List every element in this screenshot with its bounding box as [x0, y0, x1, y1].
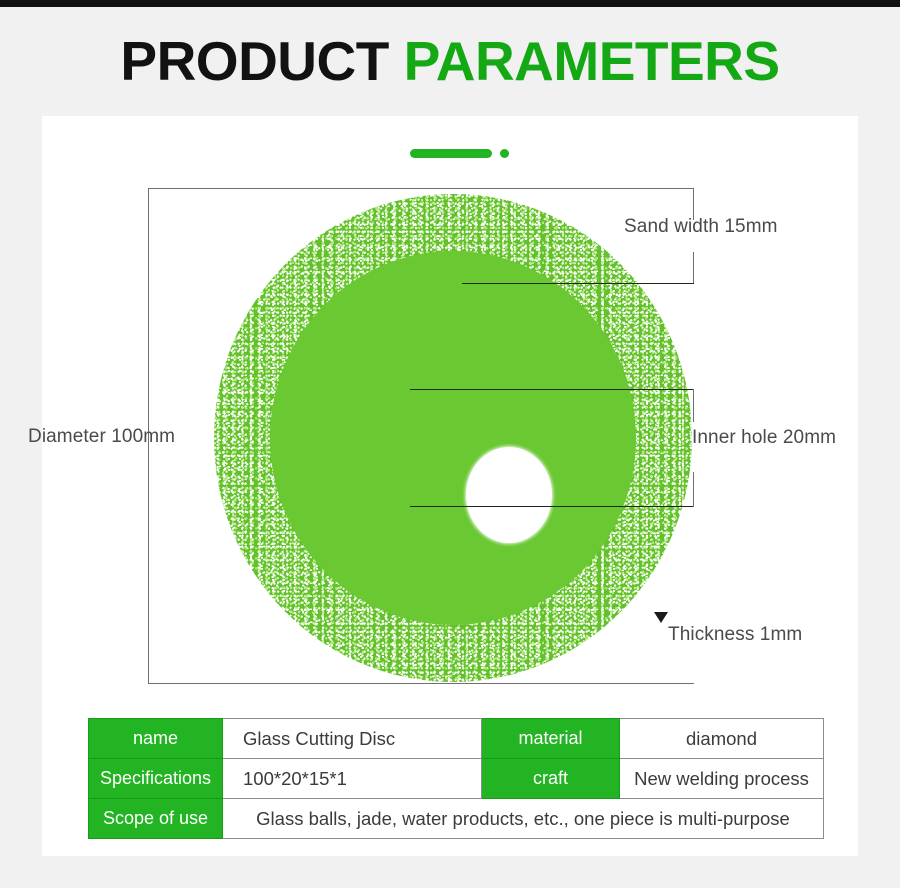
- page-title-word-product: PRODUCT: [120, 30, 388, 92]
- table-row: Scope of use Glass balls, jade, water pr…: [89, 799, 824, 839]
- table-cell-key-scope-of-use: Scope of use: [89, 799, 223, 839]
- table-cell-value-product-name: Glass Cutting Disc: [223, 719, 482, 759]
- page-title-word-parameters: PARAMETERS: [404, 30, 780, 92]
- content-panel: Diameter 100mm Sand width 15mm Inner hol…: [42, 116, 858, 856]
- top-black-bar: [0, 0, 900, 7]
- diameter-bracket-bottom-line: [148, 683, 694, 684]
- sand-width-leader-top: [652, 188, 694, 189]
- glass-cutting-disc-illustration: [214, 194, 692, 682]
- title-ornament: [410, 146, 515, 160]
- table-cell-value-scope-of-use: Glass balls, jade, water products, etc.,…: [223, 799, 824, 839]
- table-cell-key-craft: craft: [482, 759, 620, 799]
- inner-hole-leader-top: [410, 389, 694, 390]
- page-title: PRODUCT PARAMETERS: [0, 34, 900, 89]
- table-cell-value-material: diamond: [620, 719, 824, 759]
- sand-width-leader-bottom: [462, 283, 694, 284]
- callout-label-inner-hole: Inner hole 20mm: [692, 427, 836, 449]
- inner-hole-leader-vertical-lower: [693, 472, 694, 507]
- inner-hole-leader-vertical-upper: [693, 389, 694, 422]
- triangle-down-icon: [654, 612, 668, 623]
- callout-label-thickness: Thickness 1mm: [668, 624, 802, 646]
- table-row: name Glass Cutting Disc material diamond: [89, 719, 824, 759]
- disc-blade-body: [270, 251, 636, 625]
- green-dot-icon: [500, 149, 509, 158]
- callout-label-diameter: Diameter 100mm: [28, 426, 175, 448]
- disc-inner-hole: [466, 447, 552, 543]
- specification-table: name Glass Cutting Disc material diamond…: [88, 718, 824, 839]
- sand-width-leader-vertical-lower: [693, 252, 694, 284]
- table-cell-key-specifications: Specifications: [89, 759, 223, 799]
- diameter-bracket-top-line: [148, 188, 694, 189]
- disc-abrasive-rim: [214, 194, 692, 682]
- inner-hole-leader-bottom: [410, 506, 694, 507]
- table-cell-key-material: material: [482, 719, 620, 759]
- green-bar-icon: [410, 149, 492, 158]
- table-cell-key-name: name: [89, 719, 223, 759]
- table-row: Specifications 100*20*15*1 craft New wel…: [89, 759, 824, 799]
- callout-label-sand-width: Sand width 15mm: [624, 216, 778, 238]
- table-cell-value-craft: New welding process: [620, 759, 824, 799]
- table-cell-value-specifications: 100*20*15*1: [223, 759, 482, 799]
